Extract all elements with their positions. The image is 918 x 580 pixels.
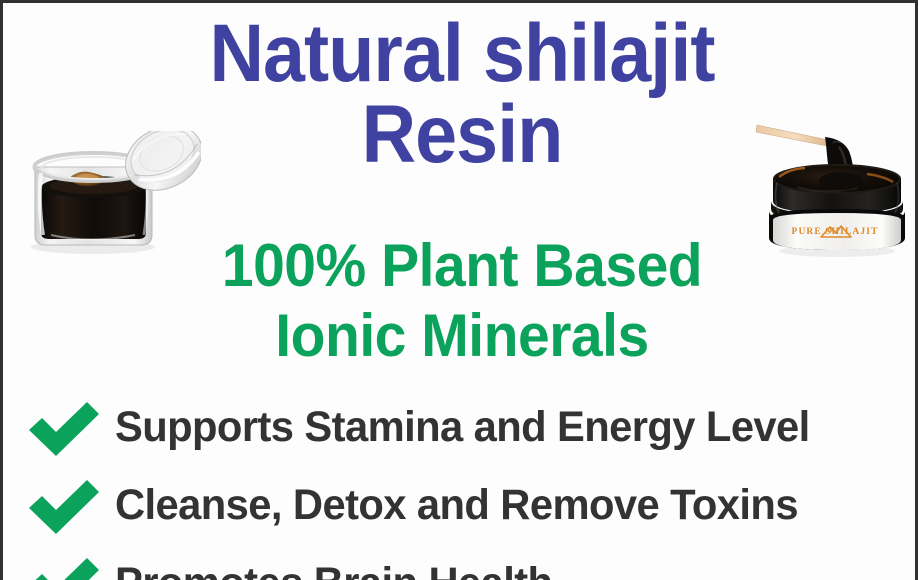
benefit-label: Supports Stamina and Energy Level xyxy=(115,406,810,449)
product-poster: PURE SHILAJIT Natural shilajit Resin 100… xyxy=(0,0,918,580)
benefit-label: Cleanse, Detox and Remove Toxins xyxy=(115,484,798,527)
list-item: Supports Stamina and Energy Level xyxy=(25,388,915,466)
headline-line-1: Natural shilajit xyxy=(209,8,714,99)
check-icon xyxy=(25,396,103,458)
check-icon xyxy=(25,552,103,580)
list-item: Promotes Brain Health xyxy=(25,544,915,580)
subtitle-line-2: Ionic Minerals xyxy=(26,301,898,371)
list-item: Cleanse, Detox and Remove Toxins xyxy=(25,466,915,544)
subtitle: 100% Plant Based Ionic Minerals xyxy=(26,231,898,371)
subtitle-line-1: 100% Plant Based xyxy=(222,232,702,299)
benefits-list: Supports Stamina and Energy Level Cleans… xyxy=(25,388,915,580)
benefit-label: Promotes Brain Health xyxy=(115,562,552,580)
page-title: Natural shilajit Resin xyxy=(40,13,885,175)
headline-line-2: Resin xyxy=(40,94,885,175)
check-icon xyxy=(25,474,103,536)
